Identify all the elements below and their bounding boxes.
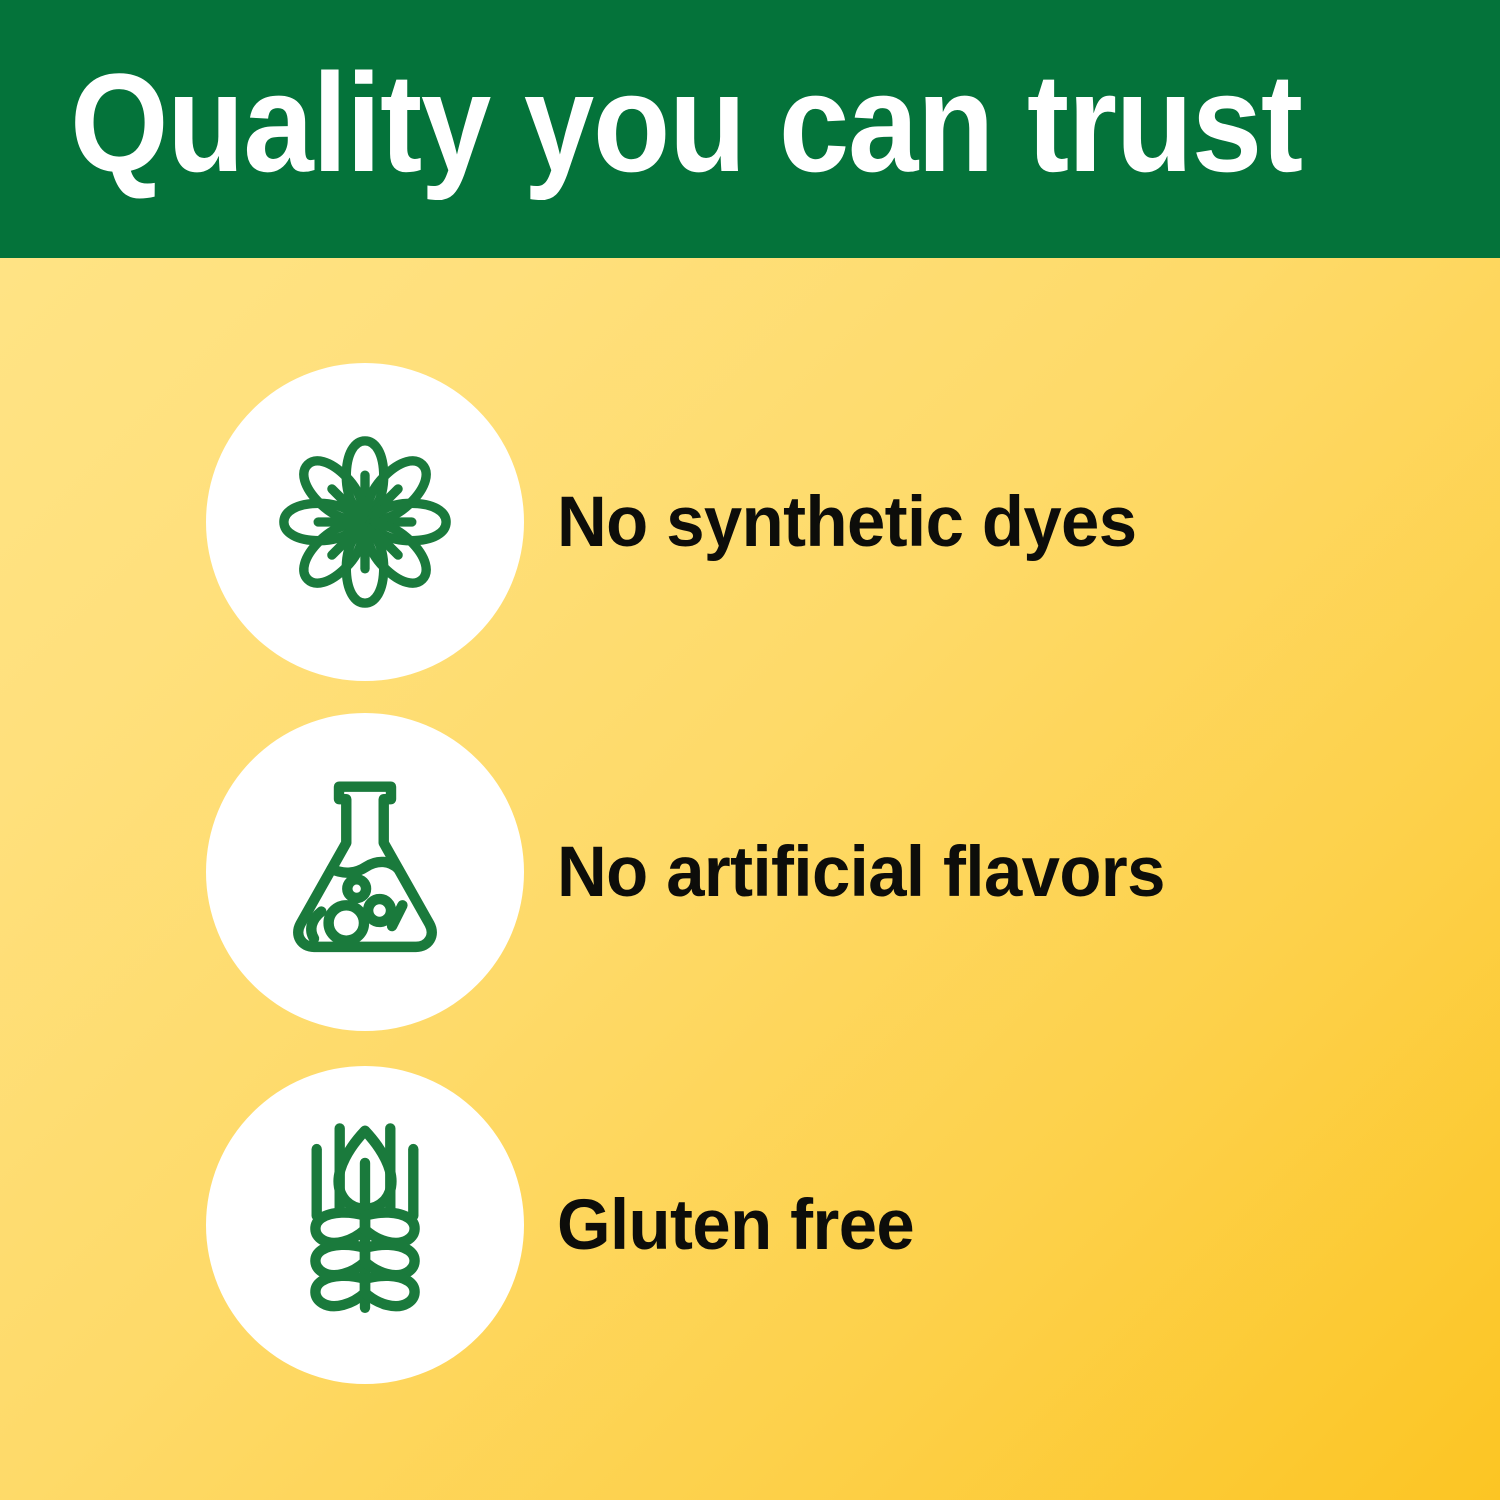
- wheat-stalk-icon: [267, 1110, 463, 1340]
- page-title: Quality you can trust: [70, 48, 1328, 198]
- icon-badge-circle: [206, 363, 524, 681]
- feature-label: No synthetic dyes: [557, 363, 1137, 681]
- icon-badge-circle: [206, 1066, 524, 1384]
- feature-row: No synthetic dyes: [0, 363, 1500, 683]
- feature-label: No artificial flavors: [557, 713, 1165, 1031]
- header-band: Quality you can trust: [0, 0, 1500, 258]
- feature-row: Gluten free: [0, 1066, 1500, 1386]
- flower-rosette-icon: [261, 418, 469, 626]
- erlenmeyer-flask-icon: [261, 768, 469, 976]
- feature-row: No artificial flavors: [0, 713, 1500, 1033]
- icon-badge-circle: [206, 713, 524, 1031]
- quality-claims-poster: Quality you can trust: [0, 0, 1500, 1500]
- feature-label: Gluten free: [557, 1066, 914, 1384]
